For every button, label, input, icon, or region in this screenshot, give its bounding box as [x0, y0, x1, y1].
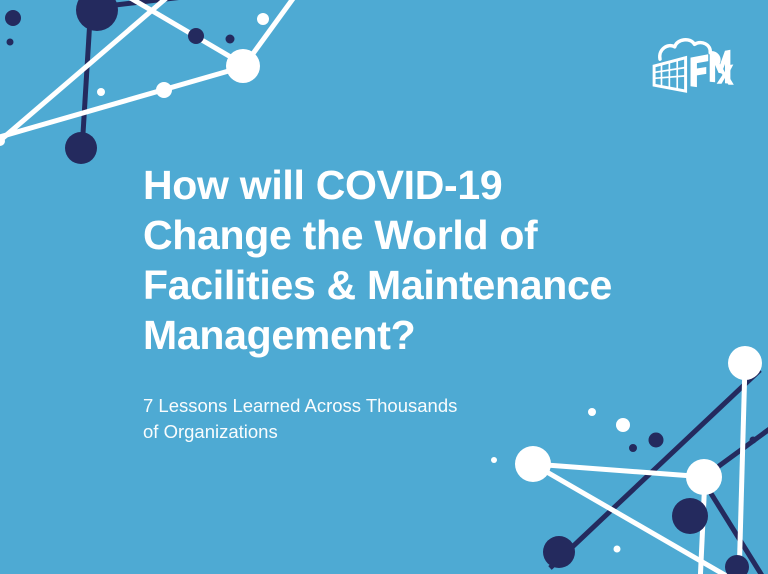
page-subtitle: 7 Lessons Learned Across Thousands of Or… [143, 360, 663, 445]
fmx-wordmark [691, 50, 734, 87]
decor-top-left-lines [0, 0, 310, 150]
decor-top-left-navy-dots [5, 0, 235, 164]
decor-top-left-white-dots [0, 13, 269, 146]
fmx-logo[interactable] [650, 36, 734, 98]
page-title: How will COVID-19 Change the World of Fa… [143, 160, 663, 360]
building-icon [654, 58, 685, 91]
slide-content: How will COVID-19 Change the World of Fa… [143, 160, 663, 445]
decor-bottom-right-navy-dots [543, 433, 757, 574]
slide-canvas: How will COVID-19 Change the World of Fa… [0, 0, 768, 574]
